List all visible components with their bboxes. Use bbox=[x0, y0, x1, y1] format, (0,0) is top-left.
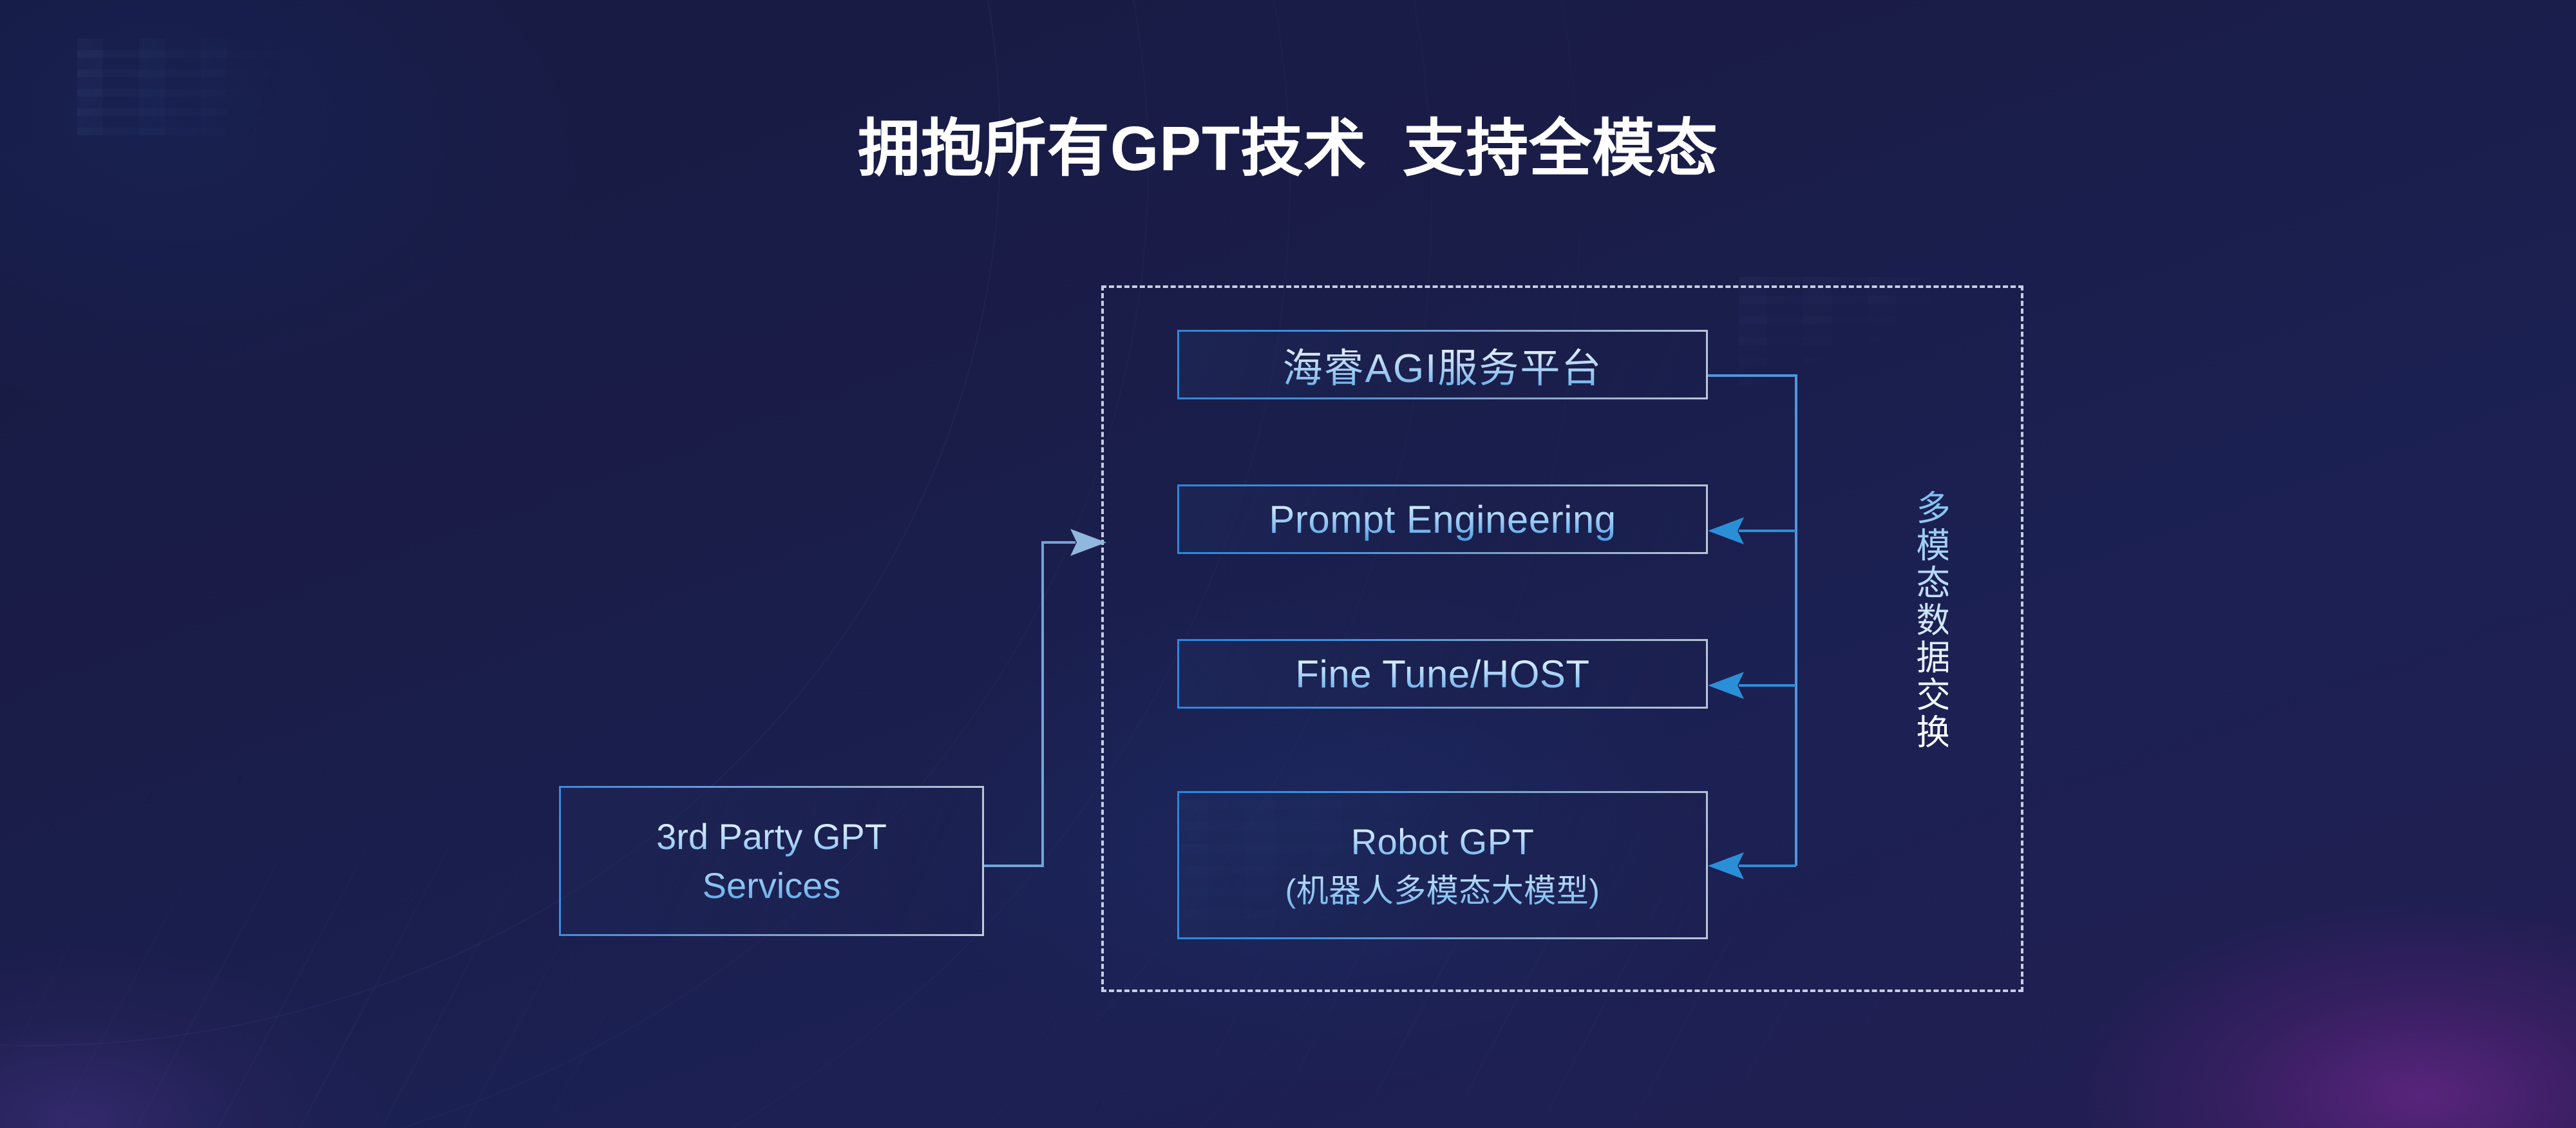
third-party-label-line1: 3rd Party GPT bbox=[656, 814, 887, 860]
node-finetune-label: Fine Tune/HOST bbox=[1295, 652, 1589, 696]
node-agi-platform[interactable]: 海睿AGI服务平台 bbox=[1177, 330, 1708, 399]
node-agi-label: 海睿AGI服务平台 bbox=[1283, 336, 1603, 394]
node-prompt-label: Prompt Engineering bbox=[1269, 497, 1616, 542]
external-link-line bbox=[984, 542, 1075, 866]
node-prompt-engineering[interactable]: Prompt Engineering bbox=[1177, 484, 1708, 554]
node-robot-gpt[interactable]: Robot GPT (机器人多模态大模型) bbox=[1177, 791, 1708, 939]
page-title: 拥抱所有GPT技术 支持全模态 bbox=[0, 116, 2576, 182]
side-caption-multimodal-data-exchange: 多模态数据交换 bbox=[1903, 490, 1948, 751]
third-party-label-line2: Services bbox=[703, 863, 841, 909]
slide-canvas: 拥抱所有GPT技术 支持全模态 海睿AGI服务平台 Prompt Enginee… bbox=[0, 0, 2576, 1128]
node-robot-label: Robot GPT bbox=[1351, 818, 1535, 866]
node-robot-sublabel: (机器人多模态大模型) bbox=[1285, 870, 1600, 912]
node-third-party-gpt-services[interactable]: 3rd Party GPT Services bbox=[559, 786, 984, 936]
node-fine-tune-host[interactable]: Fine Tune/HOST bbox=[1177, 639, 1708, 709]
